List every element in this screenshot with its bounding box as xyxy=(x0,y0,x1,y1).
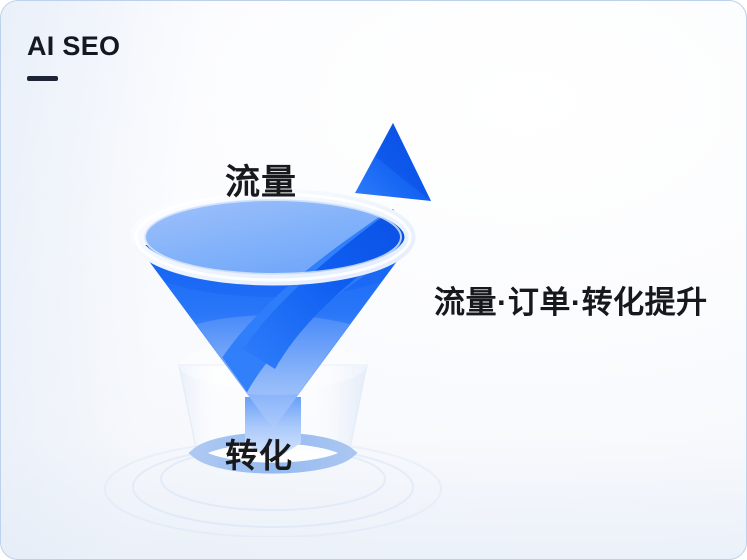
slide-canvas: AI SEO 流量·订单·转化提升 xyxy=(0,0,747,560)
tagline-text: 流量·订单·转化提升 xyxy=(434,277,708,322)
title-underline-rule xyxy=(27,76,58,81)
header: AI SEO xyxy=(27,33,120,81)
page-title: AI SEO xyxy=(27,33,120,60)
label-conversion: 转化 xyxy=(225,429,293,477)
label-traffic: 流量 xyxy=(225,154,297,205)
